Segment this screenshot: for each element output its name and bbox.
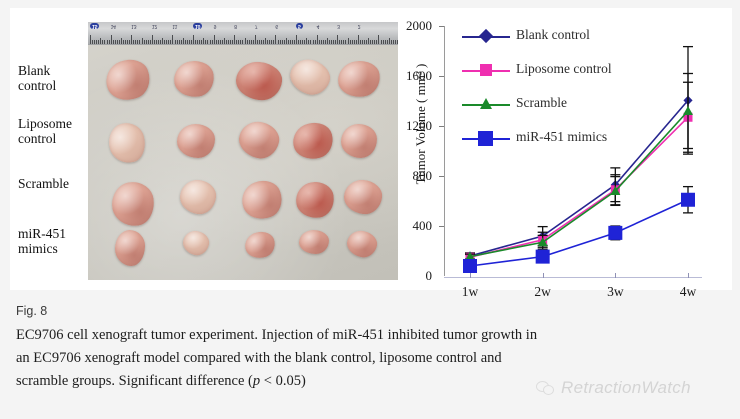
ruler-tick	[102, 40, 103, 44]
ruler-tick	[278, 40, 279, 44]
ruler-number: 3	[337, 23, 340, 29]
ruler-tick	[321, 40, 322, 44]
ruler-tick	[148, 40, 149, 44]
ruler-tick	[376, 40, 377, 44]
legend-marker-square-icon	[480, 64, 492, 76]
chart-data-point	[608, 226, 622, 240]
ruler-tick	[125, 40, 126, 44]
ruler-tick	[183, 38, 184, 44]
legend-marker-square-large-icon	[478, 131, 493, 146]
legend-label: Scramble	[516, 95, 567, 111]
ruler-tick	[288, 40, 289, 44]
ruler-number: 14	[111, 23, 116, 29]
ruler-tick	[313, 40, 314, 44]
ruler-tick	[286, 38, 287, 44]
ruler-tick	[333, 40, 334, 44]
chart-y-tick-label: 2000	[386, 18, 432, 34]
ruler-tick	[370, 40, 371, 44]
ruler-scale: 15141312111098765432	[88, 22, 398, 45]
ruler-tick	[265, 38, 266, 44]
ruler-tick	[280, 40, 281, 44]
ruler-tick	[113, 40, 114, 44]
ruler-tick	[222, 40, 223, 44]
chart-y-tick	[439, 76, 444, 77]
ruler-tick	[267, 40, 268, 44]
ruler-number: 2	[358, 23, 361, 29]
ruler-number: 9	[214, 23, 217, 29]
ruler-number: 15	[90, 23, 99, 29]
ruler-number: 4	[317, 23, 320, 29]
chart-y-tick-label: 400	[386, 218, 432, 234]
ruler-tick	[109, 40, 110, 44]
chart-x-tick-label: 4w	[668, 284, 708, 300]
ruler-tick	[360, 40, 361, 44]
legend-label: Liposome control	[516, 61, 612, 77]
ruler-tick	[251, 40, 252, 44]
ruler-tick	[253, 40, 254, 44]
ruler-tick	[158, 40, 159, 44]
tumor-growth-chart: Tumor Volume ( mm³ ) 0400800120016002000…	[398, 8, 732, 290]
xenograft-photo-panel: Blankcontrol Liposomecontrol Scramble mi…	[10, 8, 398, 290]
ruler-tick	[117, 40, 118, 44]
ruler-tick	[271, 40, 272, 44]
ruler-tick	[356, 40, 357, 44]
ruler-tick	[234, 35, 235, 44]
chart-y-tick-labels: 0400800120016002000	[386, 8, 432, 290]
ruler-tick	[323, 40, 324, 44]
ruler-tick	[203, 38, 204, 44]
ruler-tick	[104, 40, 105, 44]
chart-y-tick-label: 1600	[386, 68, 432, 84]
ruler-tick	[284, 40, 285, 44]
ruler-tick	[201, 40, 202, 44]
ruler-tick	[92, 40, 93, 44]
ruler-number: 6	[275, 23, 278, 29]
chart-y-tick-label: 1200	[386, 118, 432, 134]
ruler-tick	[230, 40, 231, 44]
ruler-number: 12	[152, 23, 157, 29]
ruler-tick	[121, 38, 122, 44]
group-label-mir451-mimics: miR-451mimics	[18, 226, 90, 256]
ruler-tick	[368, 38, 369, 44]
group-label-list: Blankcontrol Liposomecontrol Scramble mi…	[18, 8, 88, 290]
ruler-tick	[131, 35, 132, 44]
ruler-tick	[337, 35, 338, 44]
caption-line-3-post: < 0.05)	[260, 373, 306, 389]
ruler-tick	[352, 40, 353, 44]
chart-x-tick	[543, 273, 544, 278]
ruler-tick	[249, 40, 250, 44]
ruler-tick	[327, 38, 328, 44]
ruler-tick	[298, 40, 299, 44]
ruler-tick	[362, 40, 363, 44]
ruler-tick	[115, 40, 116, 44]
ruler-tick	[236, 40, 237, 44]
ruler-tick	[261, 40, 262, 44]
ruler-tick	[257, 40, 258, 44]
ruler-tick	[119, 40, 120, 44]
chart-series-mir-451-mimics	[463, 187, 695, 273]
ruler-tick	[189, 40, 190, 44]
ruler-tick	[160, 40, 161, 44]
ruler-tick	[350, 40, 351, 44]
ruler-tick	[240, 40, 241, 44]
ruler-tick	[247, 40, 248, 44]
ruler-tick	[358, 35, 359, 44]
ruler-tick	[232, 40, 233, 44]
ruler-tick	[310, 40, 311, 44]
ruler-tick	[187, 40, 188, 44]
wechat-icon	[536, 380, 555, 396]
ruler-tick	[162, 38, 163, 44]
ruler-tick	[150, 40, 151, 44]
ruler-tick	[111, 35, 112, 44]
figure-page: Blankcontrol Liposomecontrol Scramble mi…	[0, 0, 740, 419]
ruler-number: 5	[296, 23, 303, 29]
ruler-tick	[142, 38, 143, 44]
ruler-tick	[306, 38, 307, 44]
watermark-label: RetractionWatch	[561, 378, 691, 398]
ruler-tick	[242, 40, 243, 44]
chart-y-tick-label: 0	[386, 268, 432, 284]
figure-number: Fig. 8	[16, 304, 716, 318]
chart-x-tick-label: 3w	[595, 284, 635, 300]
chart-y-tick	[439, 126, 444, 127]
ruler-tick	[220, 40, 221, 44]
ruler-tick	[300, 40, 301, 44]
ruler-tick	[319, 40, 320, 44]
ruler-tick	[172, 35, 173, 44]
ruler-number: 7	[255, 23, 258, 29]
caption-line-3-pre: scramble groups. Significant difference …	[16, 373, 253, 389]
ruler-tick	[273, 40, 274, 44]
ruler-tick	[354, 40, 355, 44]
chart-x-tick-label: 2w	[523, 284, 563, 300]
ruler-tick	[135, 40, 136, 44]
ruler-tick	[275, 35, 276, 44]
ruler-tick	[94, 40, 95, 44]
ruler-tick	[214, 35, 215, 44]
ruler-tick	[185, 40, 186, 44]
tumor-specimen-photograph: 15141312111098765432	[88, 22, 398, 280]
ruler-tick	[339, 40, 340, 44]
caption-line-2: an EC9706 xenograft model compared with …	[16, 347, 716, 370]
ruler-tick	[228, 40, 229, 44]
legend-label: Blank control	[516, 27, 590, 43]
ruler-tick	[335, 40, 336, 44]
ruler-tick	[290, 40, 291, 44]
ruler-tick	[96, 40, 97, 44]
ruler-tick	[123, 40, 124, 44]
chart-y-tick-label: 800	[386, 168, 432, 184]
ruler-tick	[133, 40, 134, 44]
ruler-tick	[216, 40, 217, 44]
ruler-tick	[302, 40, 303, 44]
ruler-tick	[245, 38, 246, 44]
chart-x-tick-label: 1w	[450, 284, 490, 300]
ruler-tick	[210, 40, 211, 44]
chart-y-tick	[439, 176, 444, 177]
ruler-tick	[168, 40, 169, 44]
chart-x-tick	[615, 273, 616, 278]
ruler-tick	[263, 40, 264, 44]
ruler-tick	[127, 40, 128, 44]
caption-line-1: EC9706 cell xenograft tumor experiment. …	[16, 324, 716, 347]
retractionwatch-watermark: RetractionWatch	[536, 378, 691, 398]
ruler-tick	[325, 40, 326, 44]
ruler-tick	[255, 35, 256, 44]
ruler-tick	[175, 40, 176, 44]
ruler-tick	[345, 40, 346, 44]
ruler-number: 8	[234, 23, 237, 29]
ruler-tick	[238, 40, 239, 44]
figure-card: Blankcontrol Liposomecontrol Scramble mi…	[10, 8, 732, 290]
chart-data-point	[683, 106, 693, 115]
ruler-tick	[218, 40, 219, 44]
ruler-tick	[166, 40, 167, 44]
ruler-tick	[294, 40, 295, 44]
ruler-number: 11	[172, 23, 177, 29]
ruler-tick	[269, 40, 270, 44]
ruler-tick	[170, 40, 171, 44]
chart-plot-area: Blank controlLiposome controlScramblemiR…	[444, 26, 704, 278]
ruler-tick	[282, 40, 283, 44]
tumor-specimen	[299, 230, 329, 254]
legend-label: miR-451 mimics	[516, 129, 607, 145]
ruler-tick	[207, 40, 208, 44]
chart-data-point	[681, 193, 695, 207]
ruler-tick	[156, 40, 157, 44]
ruler-tick	[177, 40, 178, 44]
chart-y-tick	[439, 26, 444, 27]
ruler-tick	[348, 38, 349, 44]
group-label-liposome-control: Liposomecontrol	[18, 116, 90, 146]
ruler-tick	[383, 40, 384, 44]
tumor-specimen	[177, 124, 215, 158]
group-label-scramble: Scramble	[18, 176, 90, 191]
ruler-tick	[179, 40, 180, 44]
ruler-tick	[292, 40, 293, 44]
group-label-blank-control: Blankcontrol	[18, 63, 90, 93]
ruler-tick	[343, 40, 344, 44]
chart-data-point	[463, 259, 477, 273]
chart-series-blank-control	[465, 47, 693, 261]
ruler-tick	[181, 40, 182, 44]
ruler-tick	[197, 40, 198, 44]
ruler-tick	[226, 40, 227, 44]
ruler-tick	[195, 40, 196, 44]
ruler-tick	[191, 40, 192, 44]
ruler-tick	[212, 40, 213, 44]
legend-marker-triangle-icon	[480, 98, 492, 109]
chart-data-point	[536, 250, 550, 264]
ruler-tick	[364, 40, 365, 44]
ruler-tick	[317, 35, 318, 44]
chart-y-tick	[439, 226, 444, 227]
ruler-tick	[152, 35, 153, 44]
ruler-tick	[374, 40, 375, 44]
chart-series-liposome-control	[465, 82, 693, 262]
ruler-tick	[90, 35, 91, 44]
ruler-tick	[378, 35, 379, 44]
ruler-tick	[146, 40, 147, 44]
chart-series-scramble	[465, 74, 693, 261]
ruler-tick	[315, 40, 316, 44]
ruler-tick	[341, 40, 342, 44]
ruler-tick	[137, 40, 138, 44]
ruler-tick	[154, 40, 155, 44]
ruler-tick	[107, 40, 108, 44]
ruler-tick	[329, 40, 330, 44]
ruler-tick	[199, 40, 200, 44]
ruler-tick	[205, 40, 206, 44]
chart-x-tick	[470, 273, 471, 278]
ruler-tick	[193, 35, 194, 44]
ruler-tick	[331, 40, 332, 44]
ruler-tick	[98, 40, 99, 44]
ruler-tick	[139, 40, 140, 44]
ruler-tick	[144, 40, 145, 44]
ruler-tick	[129, 40, 130, 44]
ruler-tick	[304, 40, 305, 44]
ruler-tick	[308, 40, 309, 44]
ruler-tick	[164, 40, 165, 44]
ruler-number: 13	[131, 23, 136, 29]
ruler-tick	[381, 40, 382, 44]
ruler-tick	[372, 40, 373, 44]
ruler-tick	[366, 40, 367, 44]
ruler-tick	[259, 40, 260, 44]
ruler-tick	[100, 38, 101, 44]
ruler-tick	[296, 35, 297, 44]
ruler-number: 10	[193, 23, 202, 29]
chart-x-tick	[688, 273, 689, 278]
ruler-tick	[224, 38, 225, 44]
